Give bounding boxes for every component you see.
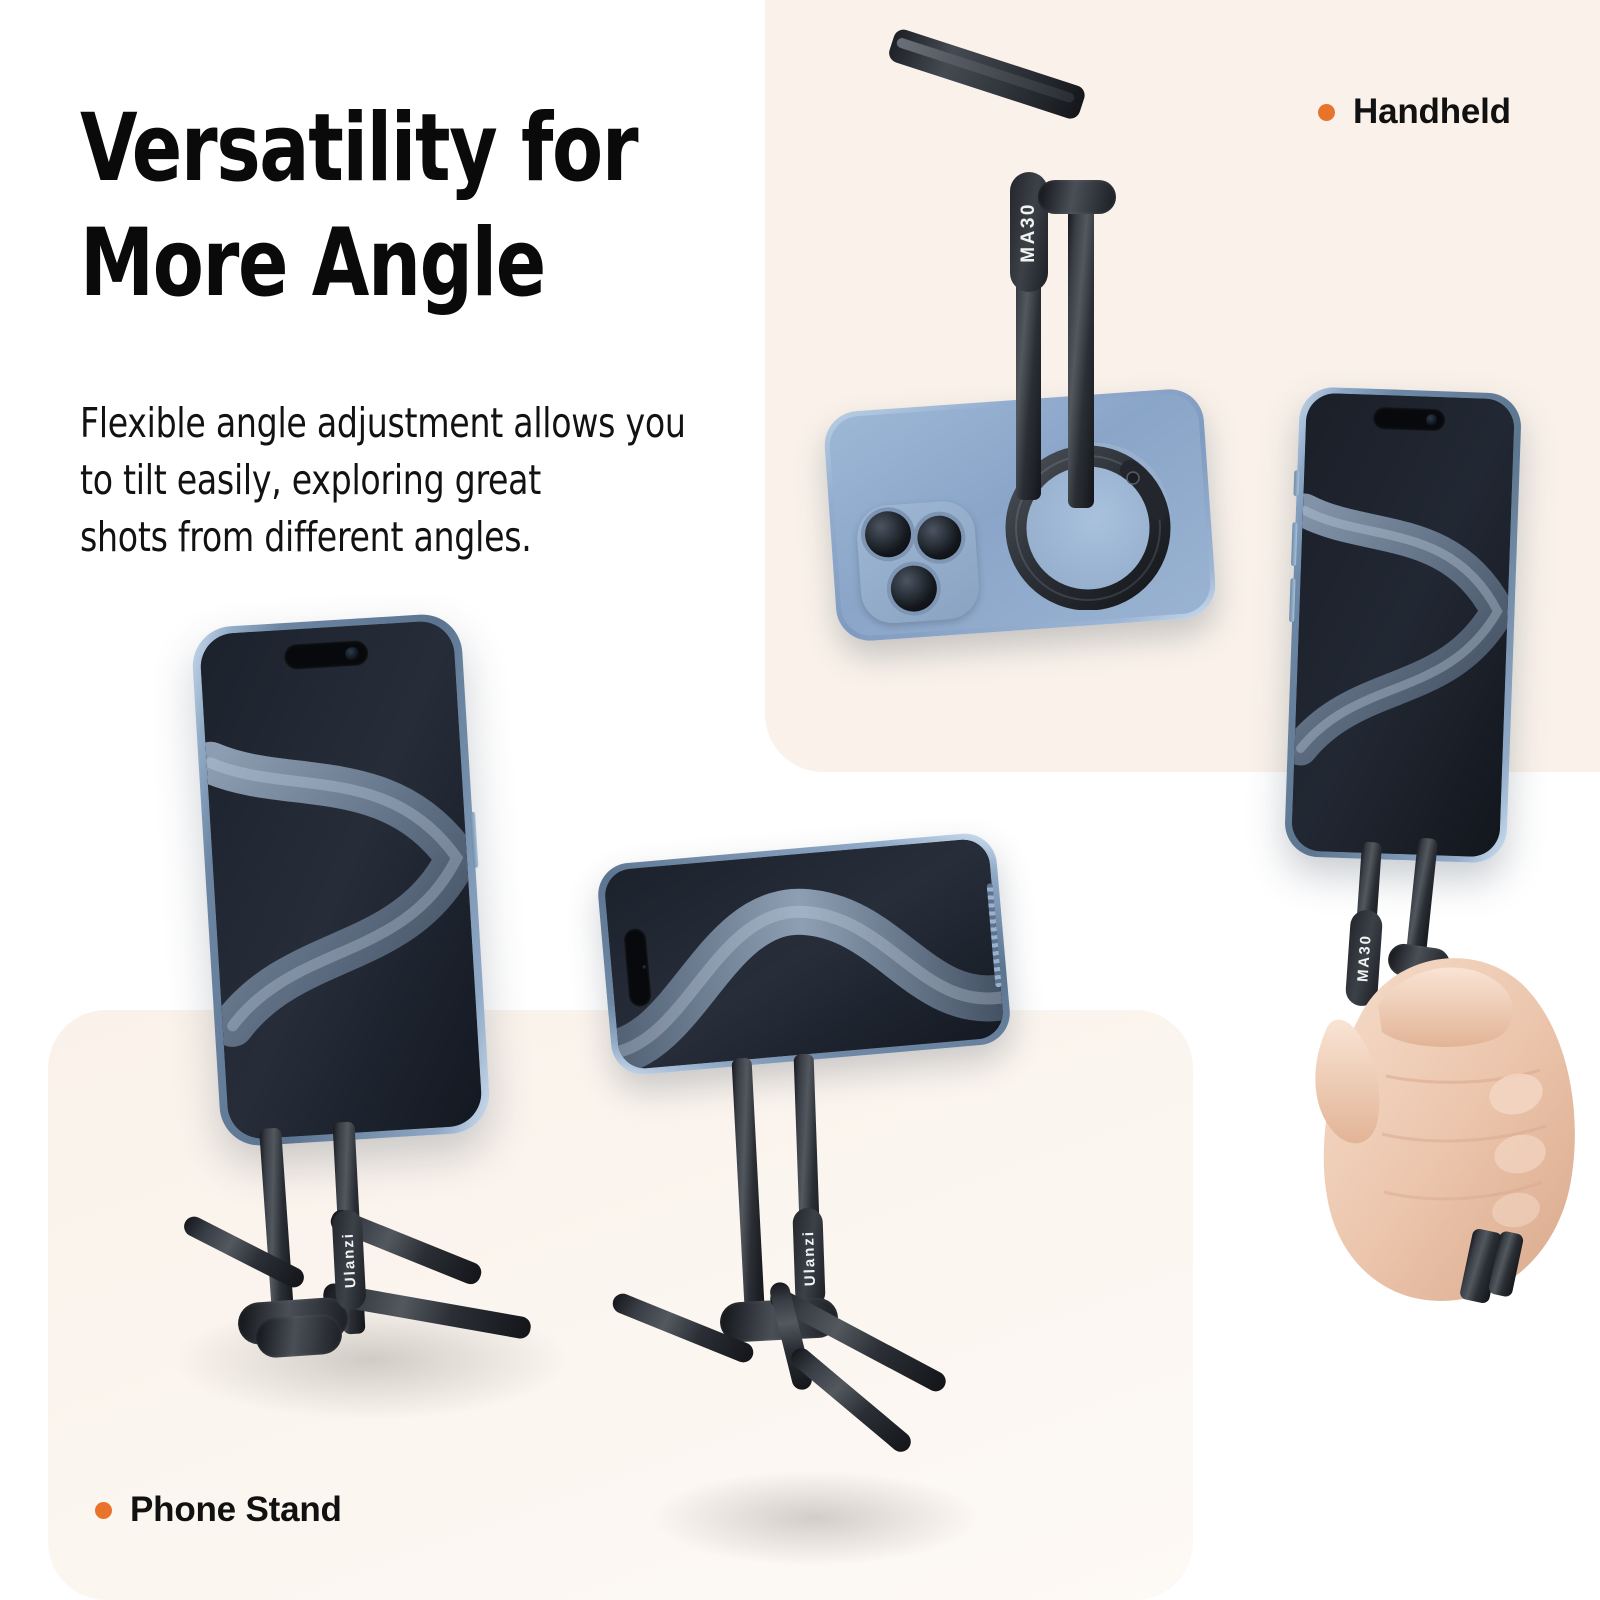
caption-handheld-label: Handheld	[1353, 92, 1511, 132]
hinge-joint	[1038, 180, 1116, 214]
scene-phone-stand-landscape: Ulanzi	[590, 830, 1030, 1550]
dynamic-island	[284, 640, 369, 670]
stand-rail-left	[259, 1127, 295, 1328]
headline: Versatility for More Angle	[80, 92, 696, 321]
wallpaper-blue-titanium	[1291, 393, 1515, 858]
hand-graphic	[1266, 880, 1600, 1310]
bullet-dot-icon	[95, 1502, 112, 1519]
camera-module	[855, 499, 981, 625]
scene-handheld-magsafe: MA30	[820, 60, 1240, 660]
ground-shadow	[650, 1470, 980, 1566]
copy-block: Versatility for More Angle Flexible angl…	[80, 92, 780, 565]
brand-plate-ulanzi: Ulanzi	[331, 1209, 366, 1310]
dynamic-island	[1373, 407, 1446, 431]
stand-rail-left	[731, 1058, 764, 1309]
iphone-portrait-handheld	[1284, 386, 1522, 863]
caption-phone-stand: Phone Stand	[95, 1490, 342, 1530]
subcopy: Flexible angle adjustment allows you to …	[80, 395, 710, 565]
wallpaper-blue-titanium	[199, 620, 483, 1141]
scene-phone-stand-portrait: Ulanzi	[160, 600, 580, 1430]
iphone-landscape-stand	[596, 831, 1013, 1077]
thumbscrew-icon	[1127, 472, 1139, 484]
stand-hub-hinge-2	[255, 1313, 344, 1359]
caption-phone-stand-label: Phone Stand	[130, 1490, 342, 1530]
marketing-canvas: Versatility for More Angle Flexible angl…	[0, 0, 1600, 1600]
stand-rail-right	[1068, 208, 1094, 508]
wallpaper-blue-titanium	[603, 838, 1005, 1071]
bullet-dot-icon	[1318, 104, 1335, 121]
brand-plate-label: MA30	[1018, 202, 1040, 263]
brand-plate-label: Ulanzi	[339, 1231, 359, 1288]
caption-handheld: Handheld	[1318, 92, 1511, 132]
brand-plate-ulanzi: Ulanzi	[792, 1208, 825, 1309]
scene-handheld-grip: MA30	[1230, 380, 1600, 1330]
brand-plate-label: Ulanzi	[800, 1230, 819, 1287]
iphone-portrait-stand	[190, 612, 491, 1148]
action-button	[1293, 470, 1299, 496]
